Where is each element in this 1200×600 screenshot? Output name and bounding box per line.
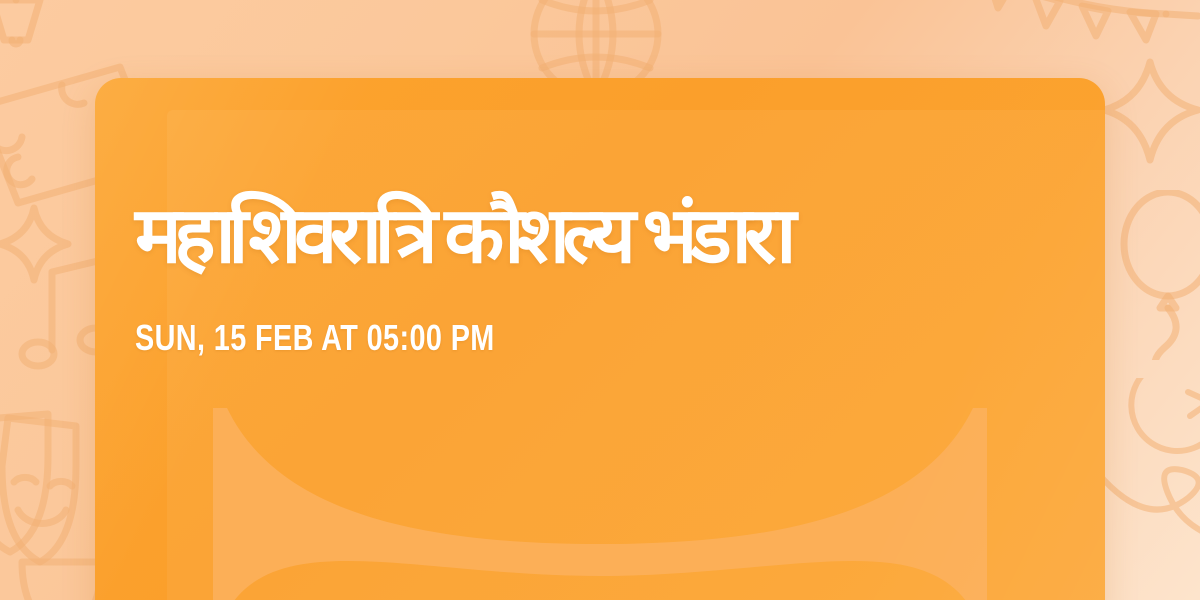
sparkle-icon bbox=[1098, 56, 1200, 176]
event-card[interactable]: महाशिवरात्रि कौशल्य भंडारा SUN, 15 FEB A… bbox=[95, 78, 1105, 600]
balloon-icon bbox=[1118, 190, 1200, 360]
event-title: महाशिवरात्रि कौशल्य भंडारा bbox=[135, 196, 1075, 274]
star-burst-icon bbox=[0, 200, 80, 290]
event-banner: महाशिवरात्रि कौशल्य भंडारा SUN, 15 FEB A… bbox=[0, 0, 1200, 600]
lamp-icon bbox=[0, 0, 102, 74]
card-text-block: महाशिवरात्रि कौशल्य भंडारा SUN, 15 FEB A… bbox=[135, 196, 1075, 356]
event-datetime: SUN, 15 FEB AT 05:00 PM bbox=[135, 320, 887, 356]
